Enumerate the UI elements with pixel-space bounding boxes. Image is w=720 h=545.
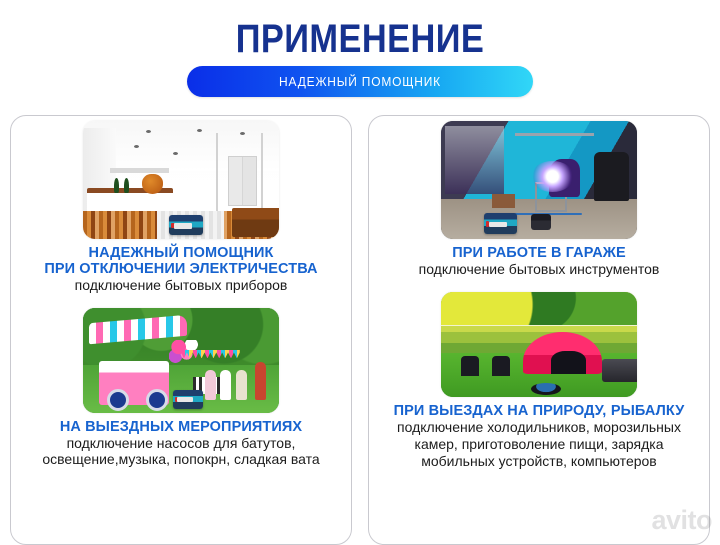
- caption-home-power-outage: НАДЕЖНЫЙ ПОМОЩНИК ПРИ ОТКЛЮЧЕНИИ ЭЛЕКТРИ…: [36, 245, 325, 293]
- party-photo: [83, 308, 279, 413]
- tagline-badge-label: НАДЕЖНЫЙ ПОМОЩНИК: [279, 74, 441, 89]
- caption-title-line1: ПРИ ВЫЕЗДАХ НА ПРИРОДУ,: [394, 403, 607, 419]
- kitchen-photo: [83, 121, 279, 239]
- caption-subtitle: подключение бытовых приборов: [44, 277, 317, 293]
- caption-subtitle: подключение насосов для батутов, освещен…: [19, 435, 343, 467]
- caption-title-line2: РЫБАЛКУ: [611, 403, 685, 419]
- block-garage-work: ПРИ РАБОТЕ В ГАРАЖЕ подключение бытовых …: [369, 116, 709, 277]
- caption-nature-fishing: ПРИ ВЫЕЗДАХ НА ПРИРОДУ, РЫБАЛКУ подключе…: [369, 403, 709, 470]
- garage-photo: [441, 121, 637, 239]
- badge-wrapper: НАДЕЖНЫЙ ПОМОЩНИК: [0, 66, 720, 97]
- page-title: ПРИМЕНЕНИЕ: [50, 18, 669, 60]
- tagline-badge: НАДЕЖНЫЙ ПОМОЩНИК: [187, 66, 533, 97]
- caption-garage-work: ПРИ РАБОТЕ В ГАРАЖЕ подключение бытовых …: [411, 245, 668, 277]
- page-header: ПРИМЕНЕНИЕ НАДЕЖНЫЙ ПОМОЩНИК: [0, 0, 720, 97]
- cards-container: НАДЕЖНЫЙ ПОМОЩНИК ПРИ ОТКЛЮЧЕНИИ ЭЛЕКТРИ…: [0, 115, 720, 545]
- card-right: ПРИ РАБОТЕ В ГАРАЖЕ подключение бытовых …: [368, 115, 710, 545]
- caption-title-line1: НА ВЫЕЗДНЫХ МЕРОПРИЯТИЯХ: [19, 419, 343, 435]
- power-station-icon: [484, 213, 517, 234]
- caption-outdoor-events: НА ВЫЕЗДНЫХ МЕРОПРИЯТИЯХ подключение нас…: [11, 419, 351, 467]
- power-station-icon: [169, 215, 202, 235]
- caption-title-line1: НАДЕЖНЫЙ ПОМОЩНИК: [44, 245, 317, 261]
- camping-photo: [441, 292, 637, 397]
- block-home-power-outage: НАДЕЖНЫЙ ПОМОЩНИК ПРИ ОТКЛЮЧЕНИИ ЭЛЕКТРИ…: [11, 116, 351, 293]
- block-nature-fishing: ПРИ ВЫЕЗДАХ НА ПРИРОДУ, РЫБАЛКУ подключе…: [369, 287, 709, 470]
- caption-title-line2: ПРИ ОТКЛЮЧЕНИИ ЭЛЕКТРИЧЕСТВА: [44, 261, 317, 277]
- power-station-icon: [173, 390, 202, 409]
- card-left: НАДЕЖНЫЙ ПОМОЩНИК ПРИ ОТКЛЮЧЕНИИ ЭЛЕКТРИ…: [10, 115, 352, 545]
- block-outdoor-events: НА ВЫЕЗДНЫХ МЕРОПРИЯТИЯХ подключение нас…: [11, 303, 351, 467]
- caption-subtitle: подключение бытовых инструментов: [419, 261, 660, 277]
- inverter-icon: [531, 214, 551, 229]
- caption-subtitle: подключение холодильников, морозильных к…: [397, 419, 681, 469]
- caption-title-line1: ПРИ РАБОТЕ В ГАРАЖЕ: [419, 245, 660, 261]
